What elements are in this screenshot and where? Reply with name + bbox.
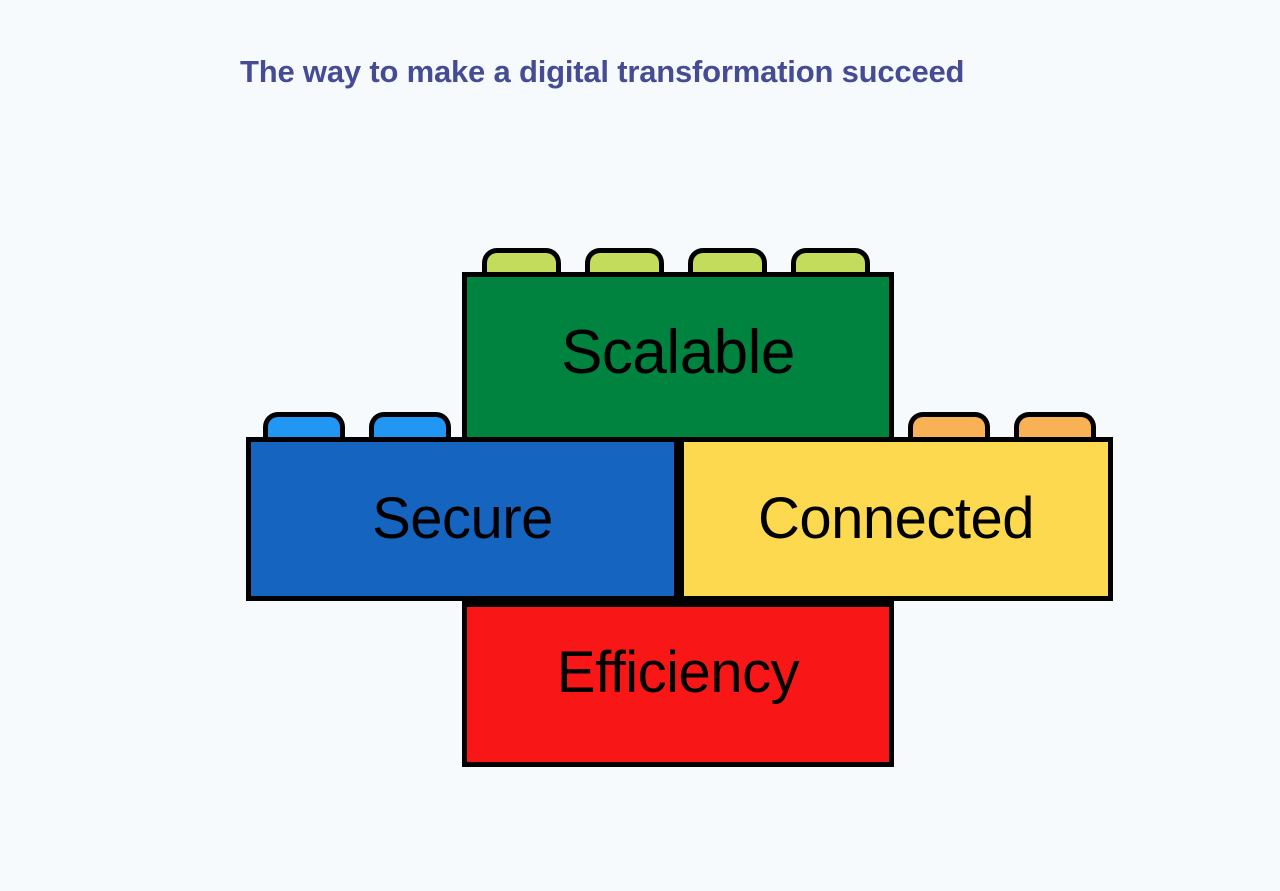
stud-icon (585, 248, 664, 274)
stud-icon (1014, 412, 1096, 439)
brick-connected-body[interactable]: Connected (679, 437, 1113, 601)
lego-diagram: Scalable Efficiency Secure Connected (0, 0, 1280, 891)
brick-secure-body[interactable]: Secure (246, 437, 679, 601)
brick-connected-label: Connected (758, 490, 1034, 548)
stud-icon (263, 412, 345, 439)
brick-scalable-label: Scalable (561, 322, 795, 384)
stud-icon (908, 412, 990, 439)
stud-icon (482, 248, 561, 274)
brick-efficiency-body[interactable]: Efficiency (462, 602, 894, 767)
stud-icon (688, 248, 767, 274)
stud-icon (369, 412, 451, 439)
diagram-canvas: The way to make a digital transformation… (0, 0, 1280, 891)
stud-icon (791, 248, 870, 274)
brick-secure-label: Secure (372, 490, 553, 548)
brick-efficiency-label: Efficiency (557, 644, 799, 702)
